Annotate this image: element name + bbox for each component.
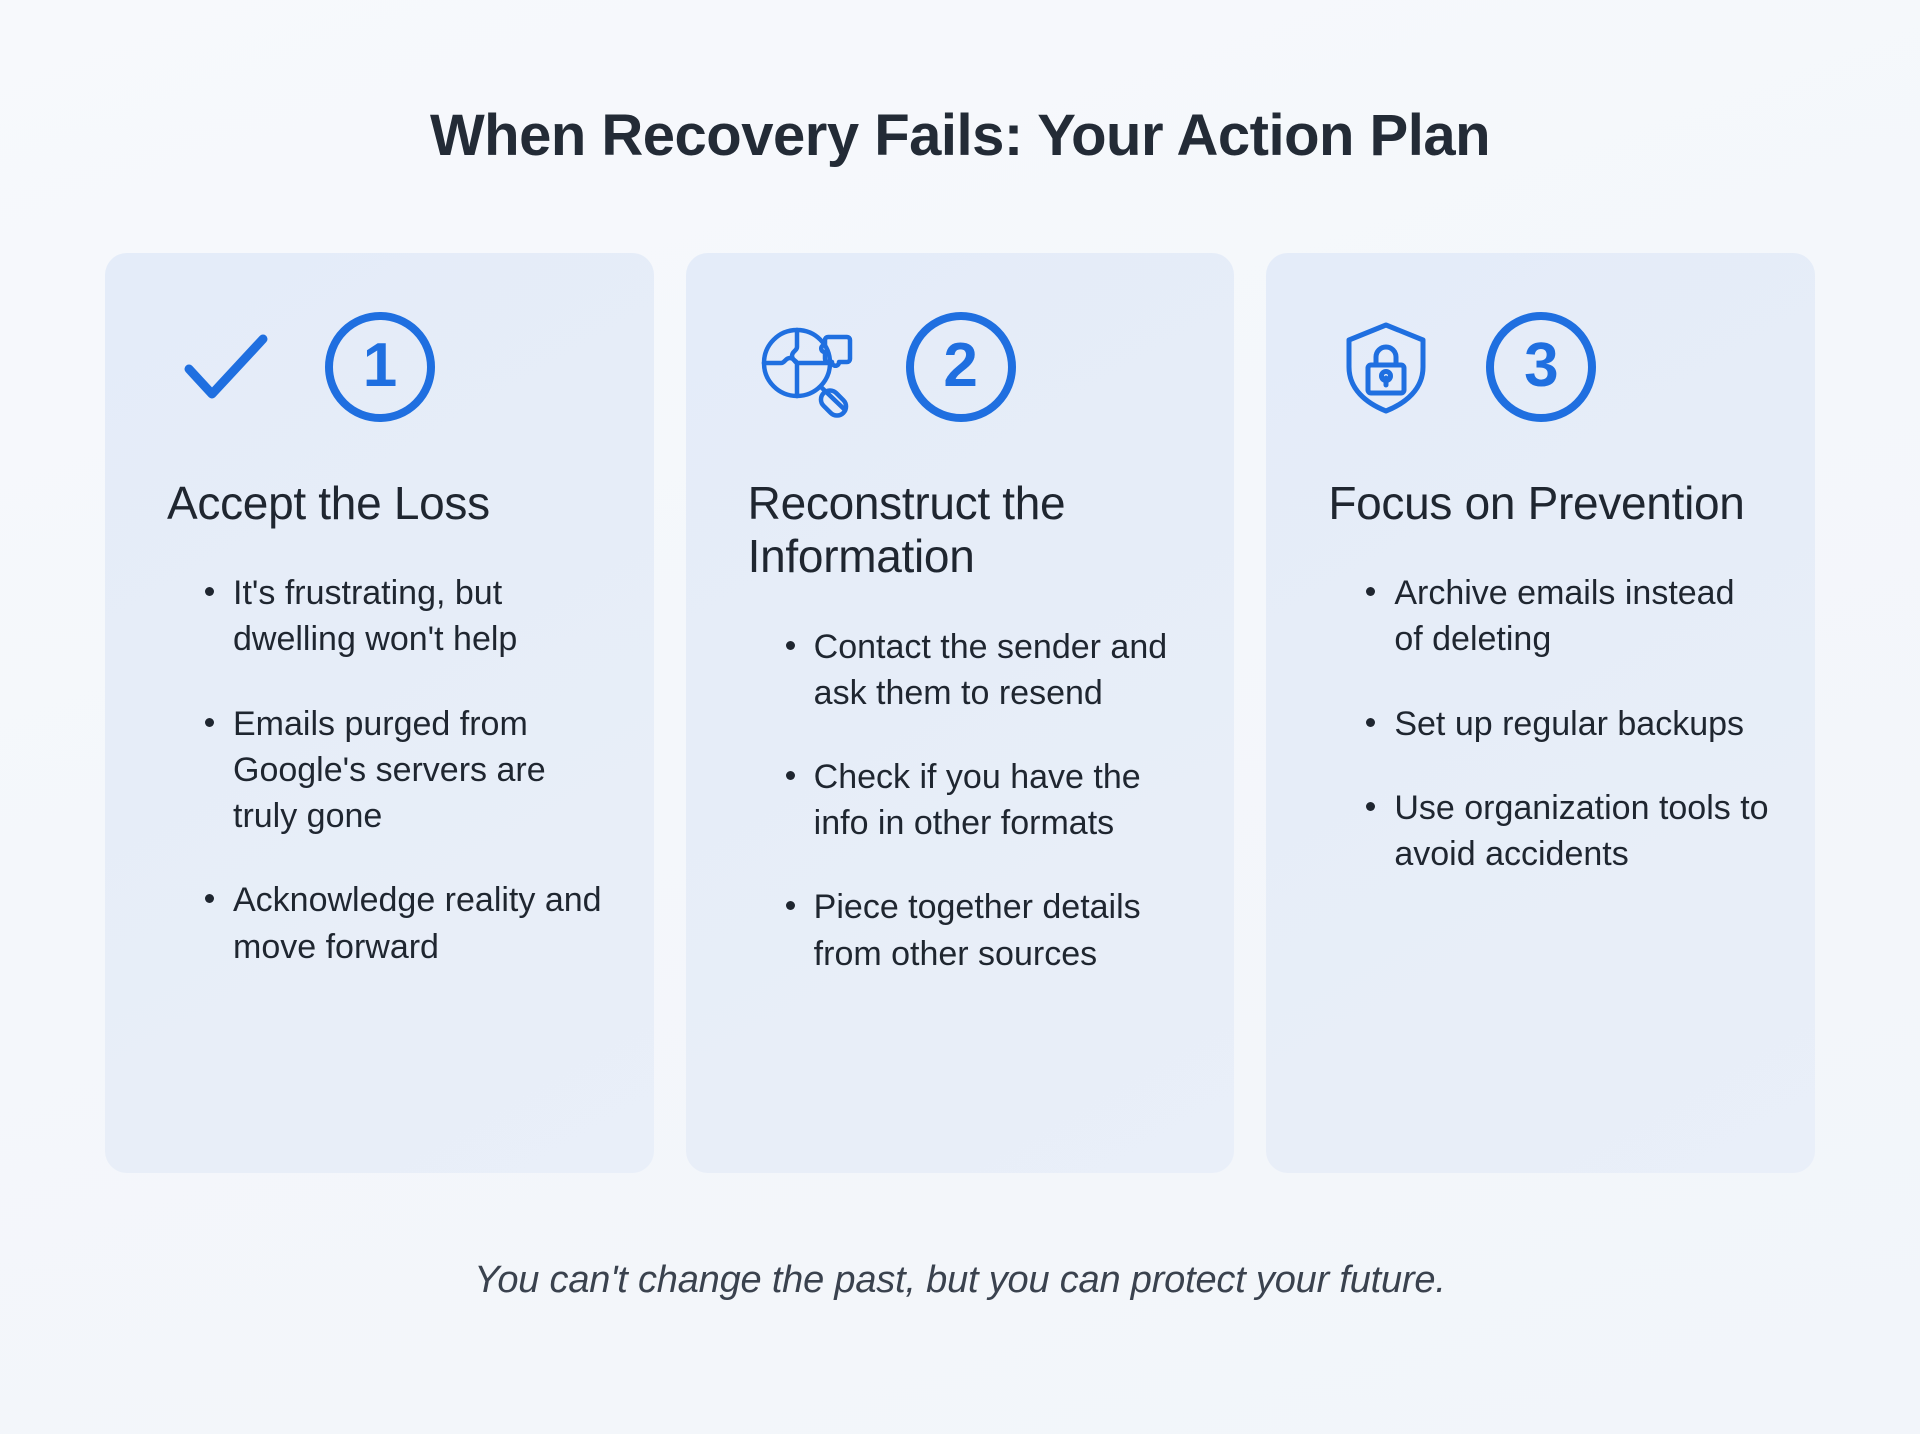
page-title: When Recovery Fails: Your Action Plan bbox=[430, 104, 1490, 168]
step-card-1: 1 Accept the Loss It's frustrating, but … bbox=[105, 253, 654, 1173]
list-item: Check if you have the info in other form… bbox=[786, 754, 1191, 846]
card-bullets-3: Archive emails instead of deleting Set u… bbox=[1310, 570, 1771, 877]
card-title-3: Focus on Prevention bbox=[1310, 477, 1771, 530]
list-item: Emails purged from Google's servers are … bbox=[205, 701, 610, 840]
checkmark-icon bbox=[171, 313, 279, 421]
puzzle-magnifier-icon bbox=[752, 313, 860, 421]
step-number-badge-3: 3 bbox=[1486, 312, 1596, 422]
steps-container: 1 Accept the Loss It's frustrating, but … bbox=[105, 253, 1815, 1173]
infographic-page: When Recovery Fails: Your Action Plan 1 … bbox=[0, 0, 1920, 1434]
step-number-badge-2: 2 bbox=[906, 312, 1016, 422]
card-bullets-1: It's frustrating, but dwelling won't hel… bbox=[149, 570, 610, 970]
list-item: Contact the sender and ask them to resen… bbox=[786, 624, 1191, 716]
step-number-1: 1 bbox=[363, 335, 397, 397]
step-number-badge-1: 1 bbox=[325, 312, 435, 422]
card-header-3: 3 bbox=[1310, 305, 1771, 429]
step-number-3: 3 bbox=[1524, 335, 1558, 397]
shield-lock-icon bbox=[1332, 313, 1440, 421]
list-item: Use organization tools to avoid accident… bbox=[1366, 785, 1771, 877]
footer-quote: You can't change the past, but you can p… bbox=[474, 1259, 1445, 1302]
card-title-1: Accept the Loss bbox=[149, 477, 610, 530]
list-item: Archive emails instead of deleting bbox=[1366, 570, 1771, 662]
step-card-2: 2 Reconstruct the Information Contact th… bbox=[686, 253, 1235, 1173]
card-header-1: 1 bbox=[149, 305, 610, 429]
step-number-2: 2 bbox=[943, 335, 977, 397]
list-item: Piece together details from other source… bbox=[786, 884, 1191, 976]
list-item: Acknowledge reality and move forward bbox=[205, 877, 610, 969]
card-header-2: 2 bbox=[730, 305, 1191, 429]
step-card-3: 3 Focus on Prevention Archive emails ins… bbox=[1266, 253, 1815, 1173]
card-bullets-2: Contact the sender and ask them to resen… bbox=[730, 624, 1191, 977]
card-title-2: Reconstruct the Information bbox=[730, 477, 1191, 584]
list-item: It's frustrating, but dwelling won't hel… bbox=[205, 570, 610, 662]
list-item: Set up regular backups bbox=[1366, 701, 1771, 747]
